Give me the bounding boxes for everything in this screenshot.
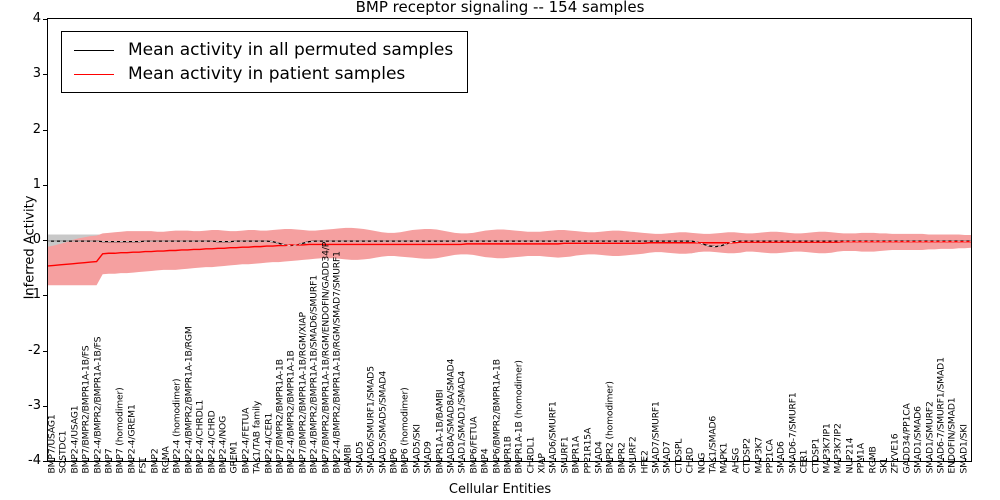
x-axis-label: Cellular Entities (0, 482, 1000, 497)
legend-swatch-patient (74, 74, 114, 75)
patient-confidence-band (48, 228, 971, 285)
y-tick-label: 2 (0, 122, 41, 137)
legend-item-permuted[interactable]: Mean activity in all permuted samples (70, 38, 453, 62)
chart-legend[interactable]: Mean activity in all permuted samples Me… (61, 31, 468, 93)
legend-item-patient[interactable]: Mean activity in patient samples (70, 62, 453, 86)
y-axis-label: Inferred Activity (23, 148, 38, 348)
chart-figure: BMP receptor signaling -- 154 samples -4… (0, 0, 1000, 500)
legend-label-permuted: Mean activity in all permuted samples (128, 40, 453, 60)
y-tick-label: 4 (0, 11, 41, 26)
y-tick-label: -4 (0, 453, 41, 468)
legend-label-patient: Mean activity in patient samples (128, 64, 405, 84)
y-tick-label: -3 (0, 398, 41, 413)
legend-swatch-permuted (74, 50, 114, 51)
y-tick-label: 3 (0, 66, 41, 81)
